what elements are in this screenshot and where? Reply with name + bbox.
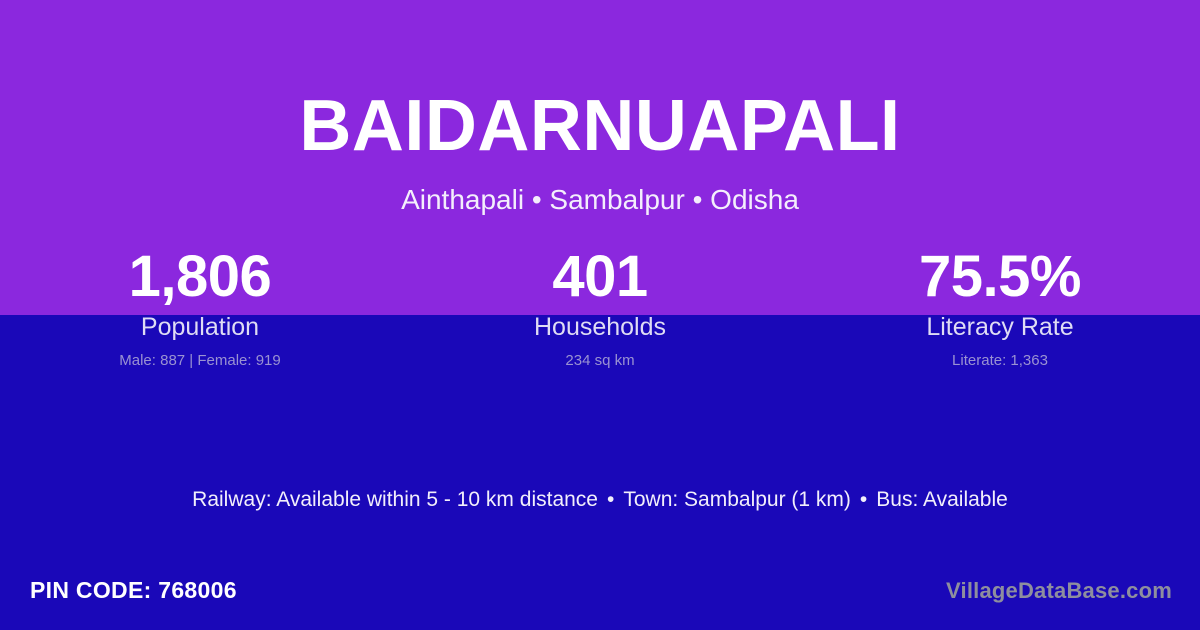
literacy-rate-value: 75.5% xyxy=(800,245,1200,309)
population-value: 1,806 xyxy=(0,245,400,309)
literate-count: Literate: 1,363 xyxy=(800,351,1200,371)
town-info: Town: Sambalpur (1 km) xyxy=(623,488,851,511)
village-location-breadcrumb: Ainthapali • Sambalpur • Odisha xyxy=(0,183,1200,217)
pin-code: PIN CODE: 768006 xyxy=(30,576,237,604)
population-gender-breakdown: Male: 887 | Female: 919 xyxy=(0,351,400,371)
stat-households: 401 Households 234 sq km xyxy=(400,245,800,371)
card-footer: PIN CODE: 768006 VillageDataBase.com xyxy=(0,572,1200,630)
village-title: BAIDARNUAPALI xyxy=(0,83,1200,169)
info-separator-dot: • xyxy=(598,485,623,515)
stat-literacy-rate: 75.5% Literacy Rate Literate: 1,363 xyxy=(800,245,1200,371)
amenities-info-line: Railway: Available within 5 - 10 km dist… xyxy=(0,485,1200,515)
bus-info: Bus: Available xyxy=(876,488,1008,511)
households-label: Households xyxy=(400,312,800,342)
households-value: 401 xyxy=(400,245,800,309)
statistics-row: 1,806 Population Male: 887 | Female: 919… xyxy=(0,245,1200,371)
village-area: 234 sq km xyxy=(400,351,800,371)
stat-population: 1,806 Population Male: 887 | Female: 919 xyxy=(0,245,400,371)
site-watermark: VillageDataBase.com xyxy=(946,577,1172,605)
population-label: Population xyxy=(0,312,400,342)
railway-info: Railway: Available within 5 - 10 km dist… xyxy=(192,488,598,511)
village-info-card: BAIDARNUAPALI Ainthapali • Sambalpur • O… xyxy=(0,0,1200,630)
literacy-rate-label: Literacy Rate xyxy=(800,312,1200,342)
info-separator-dot: • xyxy=(851,485,876,515)
